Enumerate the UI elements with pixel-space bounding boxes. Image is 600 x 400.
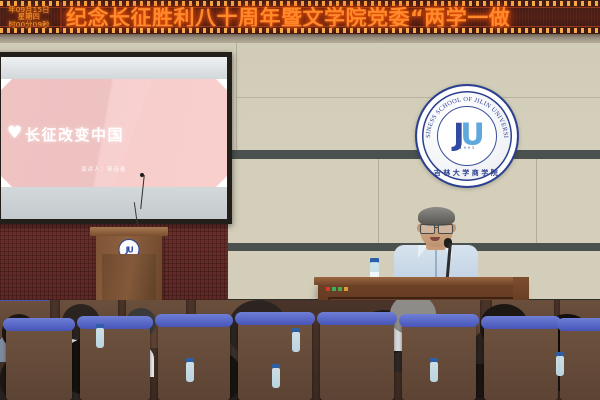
water-bottle [556,356,564,376]
screen-top-margin [1,57,227,79]
glasses-lens-left [420,224,435,234]
desk-indicator-light [326,287,330,291]
heart-icon: ♥ [7,125,24,142]
ceiling-soffit: 年09月15日 星期四 时00分09秒 纪念长征胜利八十周年暨文学院党委“两学一… [0,0,600,42]
projection-screen: ♥ 长征改变中国 演讲人：蒋连春 [0,52,232,224]
screen-bottom-margin [1,187,227,219]
water-bottle [430,362,438,382]
university-emblem: BUSINESS SCHOOL OF JILIN UNIVERSITY JU 1… [415,84,519,188]
water-bottle [272,368,280,388]
audience-seating-area [0,300,600,400]
desk-indicator-light [338,287,342,291]
led-rule [0,26,600,27]
auditorium-seat [158,318,230,400]
water-bottle [292,332,300,352]
led-dot-row-bottom [0,28,600,33]
glasses-icon [419,224,454,232]
podium-badge-monogram: JU [126,245,133,254]
led-marquee-banner: 年09月15日 星期四 时00分09秒 纪念长征胜利八十周年暨文学院党委“两学一… [0,0,600,34]
podium-top-surface [90,227,168,236]
emblem-chinese-name: 吉林大学商学院 [417,168,517,178]
wall-seam [378,159,379,243]
glasses-lens-right [438,224,453,234]
auditorium-seat [320,316,394,400]
auditorium-seat [402,318,476,400]
slide-title: 长征改变中国 [25,124,124,145]
wall-seam [536,159,537,243]
auditorium-photo: 年09月15日 星期四 时00分09秒 纪念长征胜利八十周年暨文学院党委“两学一… [0,0,600,400]
water-bottle [96,328,104,348]
auditorium-seat [484,320,558,400]
auditorium-seat [560,322,600,400]
slide-speaker-credit: 演讲人：蒋连春 [81,165,127,173]
auditorium-seat [6,322,72,400]
slide-corner-accent [1,176,12,187]
projection-screen-surface: ♥ 长征改变中国 演讲人：蒋连春 [1,57,227,219]
auditorium-seat [80,320,150,400]
slide-corner-accent [216,176,227,187]
presentation-slide: ♥ 长征改变中国 演讲人：蒋连春 [1,79,227,187]
ceiling-lip [0,34,600,43]
emblem-inner-disc: JU [437,106,497,166]
desk-indicator-lights [326,287,348,291]
slide-corner-accent [216,79,227,90]
desk-indicator-light [344,287,348,291]
water-bottle [186,362,194,382]
desk-top-surface [314,277,527,285]
desk-indicator-light [332,287,336,291]
slide-corner-accent [1,79,12,90]
emblem-year: 1 9 9 3 [417,146,517,150]
